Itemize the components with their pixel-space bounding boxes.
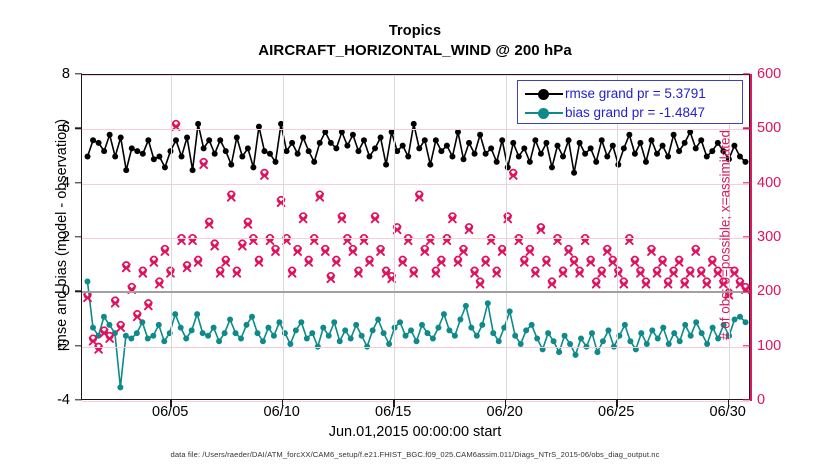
y-tickmark-left-0 [75,291,82,292]
y-tickmark-left-4 [75,182,82,183]
y-tick-right-0: 0 [757,392,805,408]
legend-label-rmse: rmse grand pr = 5.3791 [565,86,706,101]
series-bias [84,278,748,390]
y-tickmark-right-500 [743,128,750,129]
vertical-gridline-06-10 [283,75,284,399]
chart-page: Tropics AIRCRAFT_HORIZONTAL_WIND @ 200 h… [0,0,830,470]
y-tickmark-right-300 [743,236,750,237]
legend-item-rmse[interactable]: rmse grand pr = 5.3791 [523,84,737,103]
legend-marker-rmse-icon [523,87,565,101]
x-tickmark-06-05 [170,400,171,407]
data-file-footer: data file: /Users/raeder/DAI/ATM_forcXX/… [0,450,830,459]
vertical-gridline-06-15 [394,75,395,399]
y-tickmark-right-200 [743,291,750,292]
y-tickmark-left-2 [75,236,82,237]
x-tickmark-06-30 [728,400,729,407]
y-tick-right-300: 300 [757,229,805,245]
y-tick-right-500: 500 [757,120,805,136]
y-tickmark-left--4 [75,399,82,400]
y-tickmark-right-600 [743,73,750,74]
horizontal-gridline--2 [82,347,749,348]
x-tickmark-06-20 [505,400,506,407]
y-tickmark-left-6 [75,128,82,129]
horizontal-gridline-8 [82,75,749,76]
chart-title-main: Tropics [0,23,830,39]
right-axis-line [750,74,752,401]
y-tick-right-200: 200 [757,283,805,299]
zero-reference-line [82,291,749,293]
y-tickmark-right-0 [743,399,750,400]
horizontal-gridline-2 [82,238,749,239]
horizontal-gridline-4 [82,184,749,185]
y-tickmark-left-8 [75,73,82,74]
y-tick-right-100: 100 [757,338,805,354]
x-tickmark-06-15 [393,400,394,407]
x-tickmark-06-25 [616,400,617,407]
vertical-gridline-06-20 [506,75,507,399]
y-tickmark-right-100 [743,345,750,346]
y-tickmark-right-400 [743,182,750,183]
y-tick-right-400: 400 [757,175,805,191]
legend-item-bias[interactable]: bias grand pr = -1.4847 [523,103,737,122]
horizontal-gridline--4 [82,401,749,402]
chart-title-sub: AIRCRAFT_HORIZONTAL_WIND @ 200 hPa [0,42,830,59]
y-axis-left-label: rmse and bias (model - observation) [54,85,70,385]
legend-label-bias: bias grand pr = -1.4847 [565,105,705,120]
chart-legend[interactable]: rmse grand pr = 5.3791bias grand pr = -1… [517,80,743,124]
y-tick-left--4: -4 [36,392,70,408]
y-tick-right-600: 600 [757,66,805,82]
x-tickmark-06-10 [282,400,283,407]
horizontal-gridline-6 [82,129,749,130]
legend-marker-bias-icon [523,106,565,120]
vertical-gridline-06-05 [171,75,172,399]
y-tickmark-left--2 [75,345,82,346]
x-axis-label: Jun.01,2015 00:00:00 start [0,424,830,440]
y-tick-left-8: 8 [36,66,70,82]
